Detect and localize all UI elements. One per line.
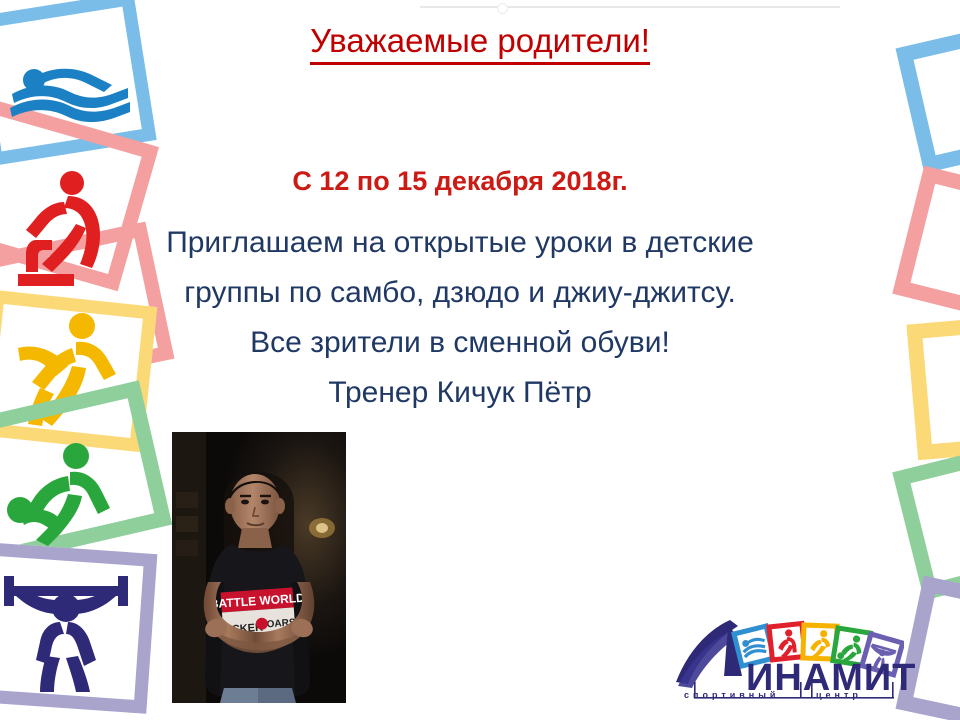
decor-frame-right-pink (892, 166, 960, 331)
logo-tagline-right: центр (816, 690, 862, 700)
announcement-body: Приглашаем на открытые уроки в детские г… (95, 218, 825, 418)
coach-photo: BATTLE WORLD OCKER COARSE (172, 432, 346, 703)
body-line-3: Все зрители в сменной обуви! (95, 318, 825, 368)
event-date-line: С 12 по 15 декабря 2018г. (110, 166, 810, 197)
body-line-2: группы по самбо, дзюдо и джиу-джитсу. (95, 268, 825, 318)
page-title: Уважаемые родители! (0, 22, 960, 60)
inamit-logo: ИНАМИТ спортивный центр (668, 612, 904, 708)
presentation-slide: Уважаемые родители! С 12 по 15 декабря 2… (0, 0, 960, 720)
top-divider-dot-artifact (497, 3, 508, 14)
decor-frame-right-yellow (906, 312, 960, 461)
page-title-text: Уважаемые родители! (310, 22, 650, 65)
body-line-4: Тренер Кичук Пётр (95, 368, 825, 418)
decor-frame-purple (0, 542, 157, 714)
coach-photo-illustration: BATTLE WORLD OCKER COARSE (172, 432, 346, 703)
top-divider-artifact (420, 6, 840, 8)
logo-tagline-left: спортивный (684, 690, 779, 700)
body-line-1: Приглашаем на открытые уроки в детские (95, 218, 825, 268)
